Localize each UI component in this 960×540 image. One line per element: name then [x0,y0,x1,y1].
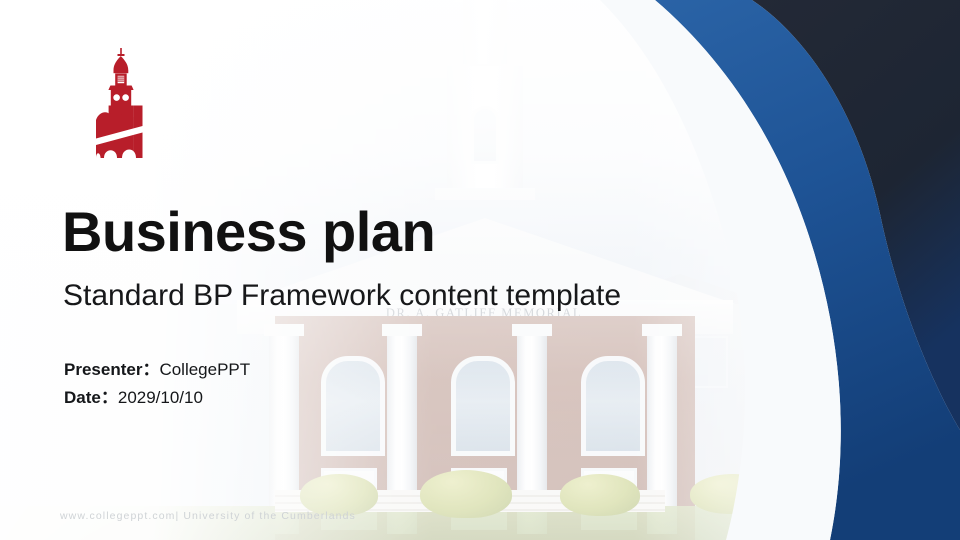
logo-icon [84,48,156,164]
presenter-value: CollegePPT [159,360,250,379]
presenter-row: Presenter：CollegePPT [64,356,250,384]
page-subtitle: Standard BP Framework content template [63,279,621,313]
date-label: Date [64,388,101,407]
date-separator: ： [101,388,118,407]
page-title: Business plan [62,203,435,262]
presentation-meta: Presenter：CollegePPT Date：2029/10/10 [64,356,250,411]
footer-credit: www.collegeppt.com| University of the Cu… [60,510,356,522]
presenter-separator: ： [142,360,159,379]
presenter-label: Presenter [64,360,142,379]
date-value: 2029/10/10 [118,388,203,407]
date-row: Date：2029/10/10 [64,384,250,412]
university-of-the-cumberlands-logo [84,48,156,164]
presentation-slide: DR. A. GATLIFF MEMORIAL [0,0,960,540]
